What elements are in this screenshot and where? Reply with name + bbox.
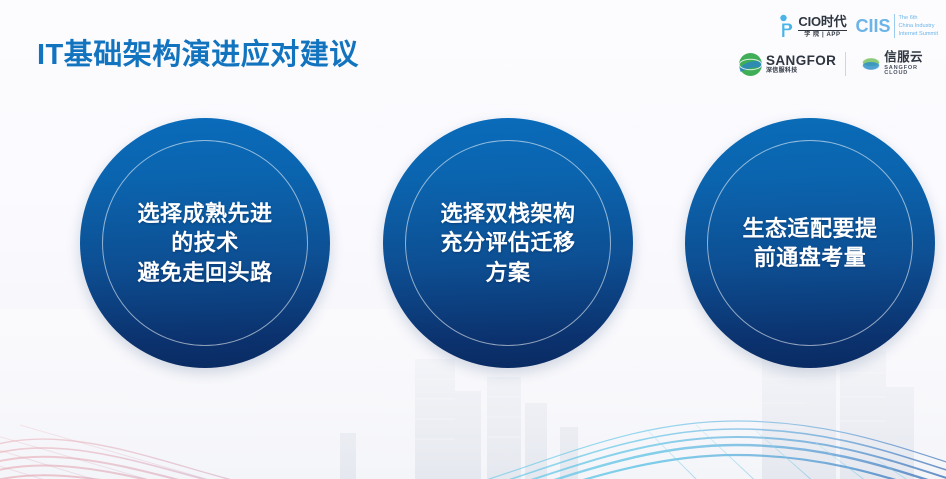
recommendation-circle-2-text: 选择双栈架构 充分评估迁移 方案 bbox=[414, 199, 601, 287]
recommendation-circle-3-text: 生态适配要提 前通盘考量 bbox=[716, 214, 903, 273]
circle-1-line-3: 避免走回头路 bbox=[137, 258, 272, 287]
cio-times-name: CIO时代 bbox=[798, 15, 846, 28]
logo-sangfor: SANGFOR 深信服科技 bbox=[738, 52, 836, 77]
logo-bar: CIO时代 学 院 | APP CIIS The 6th China Indus… bbox=[738, 10, 938, 80]
ciis-name: CIIS bbox=[856, 17, 891, 35]
circle-group: 选择成熟先进 的技术 避免走回头路 选择双栈架构 充分评估迁移 方案 生态适配要… bbox=[0, 118, 946, 368]
circle-3-line-1: 生态适配要提 bbox=[742, 214, 877, 243]
sangfor-sub: 深信服科技 bbox=[766, 68, 836, 74]
sangfor-name: SANGFOR bbox=[766, 54, 836, 68]
sangfor-cloud-sub: SANGFOR CLOUD bbox=[884, 66, 938, 77]
cio-times-sub: 学 院 | APP bbox=[798, 30, 846, 38]
ciis-tagline: The 6th China Industry Internet Summit bbox=[894, 14, 938, 38]
recommendation-circle-2[interactable]: 选择双栈架构 充分评估迁移 方案 bbox=[383, 118, 633, 368]
recommendation-circle-3[interactable]: 生态适配要提 前通盘考量 bbox=[685, 118, 935, 368]
circle-1-line-2: 的技术 bbox=[137, 228, 272, 257]
cio-person-icon bbox=[776, 14, 795, 38]
circle-2-line-1: 选择双栈架构 bbox=[440, 199, 575, 228]
slide-canvas: IT基础架构演进应对建议 CIO时代 学 院 | APP CIIS The 6t… bbox=[0, 0, 946, 479]
circle-1-line-1: 选择成熟先进 bbox=[137, 199, 272, 228]
ciis-tagline-line-1: The 6th bbox=[899, 14, 938, 22]
ciis-tagline-line-2: China Industry bbox=[899, 22, 938, 30]
logo-row-top: CIO时代 学 院 | APP CIIS The 6th China Indus… bbox=[738, 10, 938, 42]
logo-row-bottom: SANGFOR 深信服科技 信服云 SANGFOR CLOUD bbox=[738, 48, 938, 80]
sangfor-cloud-name: 信服云 bbox=[884, 51, 938, 64]
recommendation-circle-1[interactable]: 选择成熟先进 的技术 避免走回头路 bbox=[80, 118, 330, 368]
logo-ciis: CIIS The 6th China Industry Internet Sum… bbox=[856, 14, 939, 38]
logo-divider bbox=[845, 52, 846, 76]
circle-2-line-2: 充分评估迁移 bbox=[440, 228, 575, 257]
sangfor-cloud-icon bbox=[855, 53, 881, 75]
ciis-tagline-line-3: Internet Summit bbox=[899, 30, 938, 38]
logo-sangfor-cloud: 信服云 SANGFOR CLOUD bbox=[855, 51, 938, 77]
sangfor-globe-icon bbox=[738, 52, 763, 77]
circle-2-line-3: 方案 bbox=[440, 258, 575, 287]
circle-3-line-2: 前通盘考量 bbox=[742, 243, 877, 272]
logo-cio-times: CIO时代 学 院 | APP bbox=[776, 14, 846, 38]
page-title: IT基础架构演进应对建议 bbox=[37, 31, 359, 73]
recommendation-circle-1-text: 选择成熟先进 的技术 避免走回头路 bbox=[111, 199, 298, 287]
